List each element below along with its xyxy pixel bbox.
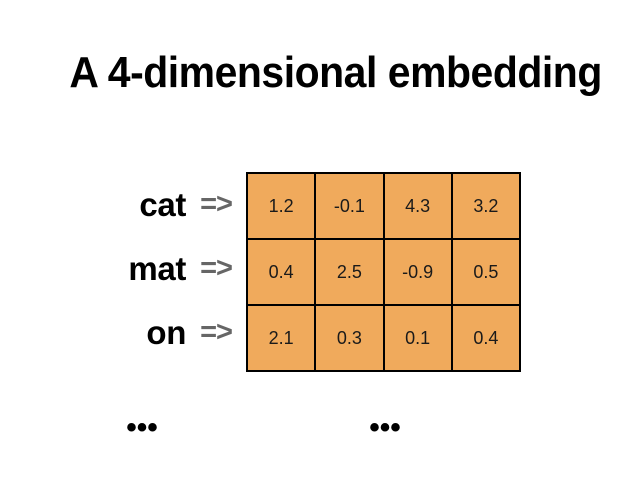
- word-label-row-on: on =>: [20, 300, 242, 364]
- table-row: 2.1 0.3 0.1 0.4: [247, 305, 520, 371]
- table-row: 1.2 -0.1 4.3 3.2: [247, 173, 520, 239]
- embedding-cell: 0.4: [247, 239, 315, 305]
- page-title: A 4-dimensional embedding: [69, 48, 582, 98]
- word-label-cat: cat: [139, 188, 186, 221]
- embedding-cell: 2.5: [315, 239, 383, 305]
- word-label-row-mat: mat =>: [20, 236, 242, 300]
- embedding-cell: -0.1: [315, 173, 383, 239]
- embedding-cell: 4.3: [384, 173, 452, 239]
- word-label-row-cat: cat =>: [20, 172, 242, 236]
- slide-canvas: A 4-dimensional embedding cat => mat => …: [0, 0, 638, 484]
- embedding-cell: 2.1: [247, 305, 315, 371]
- embedding-matrix: 1.2 -0.1 4.3 3.2 0.4 2.5 -0.9 0.5 2.1 0.…: [246, 172, 521, 372]
- ellipsis-words: •••: [126, 413, 158, 443]
- word-label-on: on: [146, 316, 186, 349]
- embedding-cell: 1.2: [247, 173, 315, 239]
- embedding-cell: -0.9: [384, 239, 452, 305]
- arrow-icon-cat: =>: [200, 190, 232, 219]
- embedding-cell: 0.1: [384, 305, 452, 371]
- embedding-cell: 0.4: [452, 305, 520, 371]
- arrow-icon-mat: =>: [200, 254, 232, 283]
- embedding-cell: 3.2: [452, 173, 520, 239]
- embedding-cell: 0.3: [315, 305, 383, 371]
- word-label-list: cat => mat => on =>: [20, 172, 242, 364]
- table-row: 0.4 2.5 -0.9 0.5: [247, 239, 520, 305]
- word-label-mat: mat: [128, 252, 186, 285]
- ellipsis-vectors: •••: [369, 413, 401, 443]
- embedding-cell: 0.5: [452, 239, 520, 305]
- arrow-icon-on: =>: [200, 318, 232, 347]
